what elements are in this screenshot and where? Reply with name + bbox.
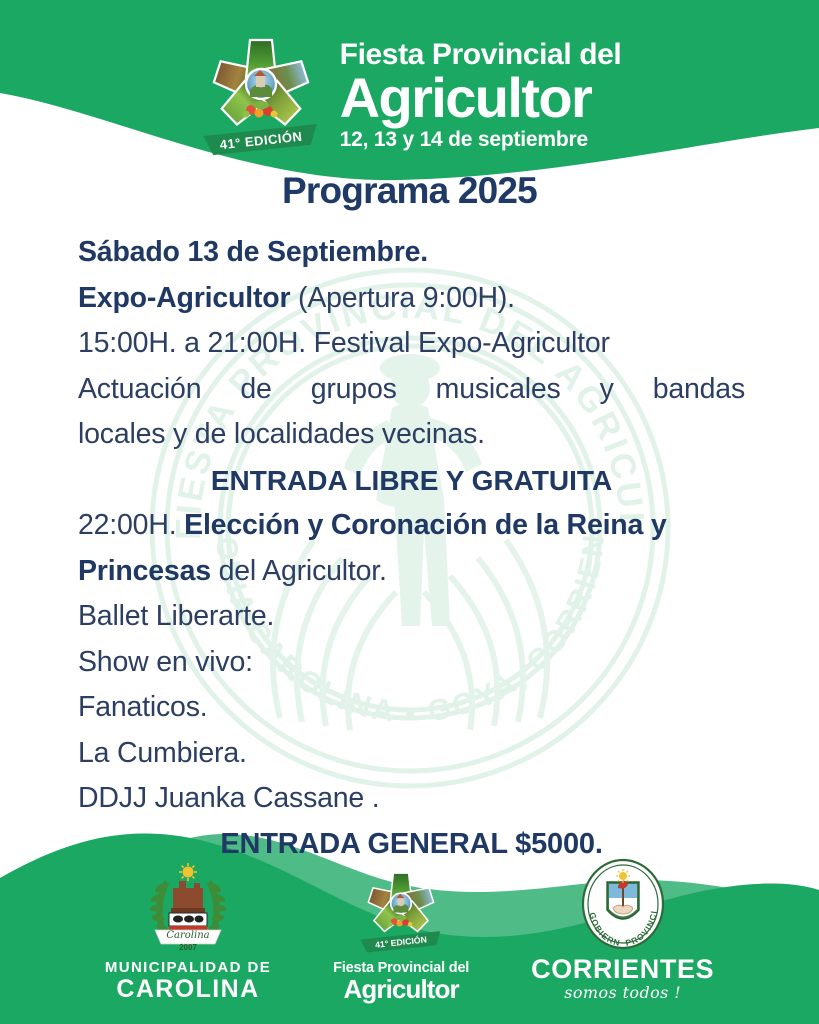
program-line-show-text: Show en vivo: — [78, 646, 253, 678]
program-line-ddjj: DDJJ Juanka Cassane . — [78, 776, 745, 822]
footer-logo-municipalidad-carolina: Carolina 2007 MUNICIPALIDAD DE CAROLINA — [105, 862, 271, 1002]
program-line-bands-1: Actuación de grupos musicales y bandas — [78, 367, 745, 413]
edition-ribbon: 41° EDICIÓN — [203, 124, 318, 156]
carolina-year-text: 2007 — [179, 943, 197, 952]
fiesta-label-bottom: Agricultor — [344, 976, 459, 1002]
program-line-festival: 15:00H. a 21:00H. Festival Expo-Agricult… — [78, 321, 745, 367]
corrientes-label-top: CORRIENTES — [531, 956, 714, 983]
header-line-2: Agricultor — [340, 71, 592, 124]
program-section: Programa 2025 Sábado 13 de Septiembre. E… — [0, 170, 819, 867]
program-line-coronation-1-time: 22:00H. — [78, 509, 184, 541]
program-line-fanaticos-text: Fanaticos. — [78, 691, 207, 723]
carolina-ribbon-text: Carolina — [166, 930, 209, 941]
program-line-expo-rest: (Apertura 9:00H). — [290, 282, 515, 314]
corrientes-label-bottom: somos todos ! — [564, 984, 681, 1002]
carolina-crest-icon: Carolina 2007 — [135, 862, 241, 954]
program-lines: Sábado 13 de Septiembre. Expo-Agricultor… — [0, 230, 819, 867]
program-line-festival-text: 15:00H. a 21:00H. Festival Expo-Agricult… — [78, 327, 610, 359]
fiesta-petal-logo-icon: 41° EDICIÓN — [198, 30, 324, 156]
carolina-label-bottom: CAROLINA — [116, 976, 259, 1002]
corrientes-crest-icon: GOBIERNO PROVINCIAL — [577, 858, 669, 950]
program-line-bands-1-text: Actuación de grupos musicales y bandas — [78, 373, 745, 405]
program-line-saturday: Sábado 13 de Septiembre. — [78, 230, 745, 276]
carolina-label-top: MUNICIPALIDAD DE — [105, 960, 271, 976]
program-line-free-entry: ENTRADA LIBRE Y GRATUITA — [78, 458, 745, 504]
program-line-saturday-bold: Sábado 13 de Septiembre. — [78, 236, 428, 268]
program-line-coronation-2-bold: Princesas — [78, 555, 211, 587]
program-line-expo: Expo-Agricultor (Apertura 9:00H). — [78, 276, 745, 322]
program-line-coronation-1-bold: Elección y Coronación de la Reina y — [184, 509, 666, 541]
program-line-cumbiera: La Cumbiera. — [78, 731, 745, 777]
fiesta-footer-ribbon: 41° EDICIÓN — [360, 931, 441, 953]
program-line-ddjj-text: DDJJ Juanka Cassane . — [78, 782, 380, 814]
carolina-building-icon — [169, 881, 207, 931]
carolina-ribbon: Carolina 2007 — [155, 930, 221, 952]
program-line-bands-2: locales y de localidades vecinas. — [78, 412, 745, 458]
page-title: Programa 2025 — [0, 170, 819, 212]
program-line-expo-bold: Expo-Agricultor — [78, 282, 290, 314]
program-line-free-entry-text: ENTRADA LIBRE Y GRATUITA — [211, 465, 612, 496]
program-line-bands-2-text: locales y de localidades vecinas. — [78, 418, 485, 450]
program-line-coronation-1: 22:00H. Elección y Coronación de la Rein… — [78, 503, 745, 549]
footer-logo-fiesta-agricultor: 41° EDICIÓN Fiesta Provincial del Agricu… — [333, 867, 469, 1002]
program-line-ballet-text: Ballet Liberarte. — [78, 600, 274, 632]
header-content: 41° EDICIÓN Fiesta Provincial del Agricu… — [0, 18, 819, 168]
program-line-coronation-2-rest: del Agricultor. — [211, 555, 387, 587]
program-line-show: Show en vivo: — [78, 640, 745, 686]
petal-logo-svg: 41° EDICIÓN — [198, 30, 324, 156]
program-line-cumbiera-text: La Cumbiera. — [78, 737, 247, 769]
footer-logos: Carolina 2007 MUNICIPALIDAD DE CAROLINA — [0, 832, 819, 1002]
program-line-fanaticos: Fanaticos. — [78, 685, 745, 731]
program-line-ballet: Ballet Liberarte. — [78, 594, 745, 640]
program-line-coronation-2: Princesas del Agricultor. — [78, 549, 745, 595]
carolina-sun-icon — [179, 863, 197, 881]
poster-root: 41° EDICIÓN Fiesta Provincial del Agricu… — [0, 0, 819, 1024]
header-line-3: 12, 13 y 14 de septiembre — [340, 129, 588, 150]
footer-logo-corrientes: GOBIERNO PROVINCIAL CORRIENTES somos tod… — [531, 858, 714, 1002]
fiesta-petal-logo-footer-icon: 41° EDICIÓN — [353, 867, 449, 955]
header-title-block: Fiesta Provincial del Agricultor 12, 13 … — [340, 36, 622, 149]
